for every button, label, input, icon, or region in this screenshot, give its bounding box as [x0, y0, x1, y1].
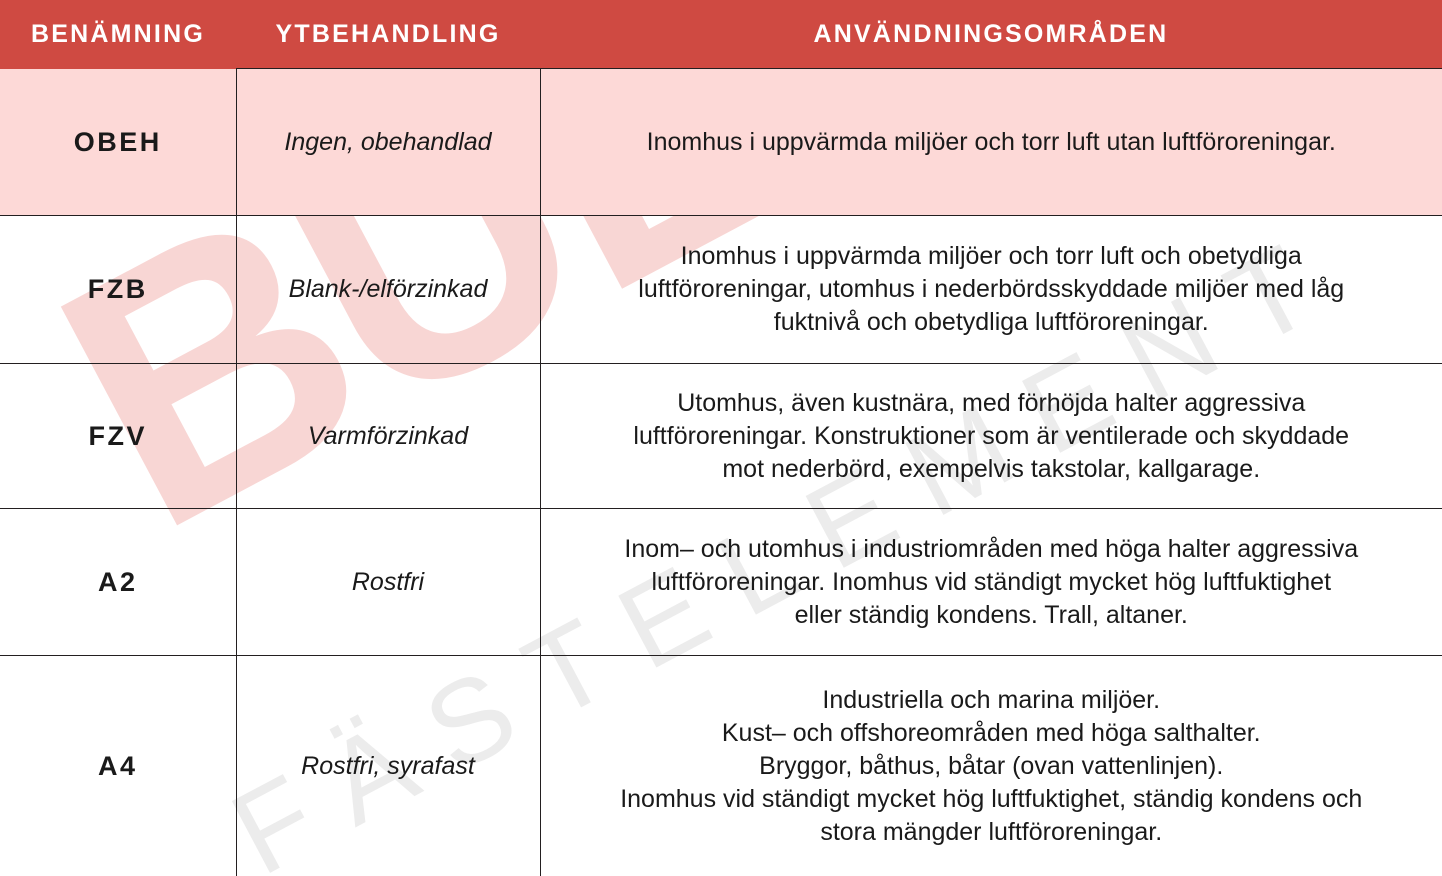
column-header-benamning: BENÄMNING	[0, 0, 236, 69]
cell-text-line: Kust– och offshoreområden med höga salth…	[549, 717, 1435, 750]
cell-text-line: Inomhus vid ständigt mycket hög luftfukt…	[549, 783, 1435, 816]
cell-benamning: OBEH	[0, 69, 236, 216]
cell-text-line: Utomhus, även kustnära, med förhöjda hal…	[549, 387, 1435, 420]
table-row: OBEH Ingen, obehandlad Inomhus i uppvärm…	[0, 69, 1442, 216]
cell-text-line: Industriella och marina miljöer.	[549, 684, 1435, 717]
cell-text-line: mot nederbörd, exempelvis takstolar, kal…	[549, 453, 1435, 486]
cell-benamning: A4	[0, 656, 236, 876]
cell-anvandningsomraden: Utomhus, även kustnära, med förhöjda hal…	[540, 364, 1442, 509]
cell-anvandningsomraden: Industriella och marina miljöer. Kust– o…	[540, 656, 1442, 876]
cell-benamning: FZB	[0, 216, 236, 364]
cell-benamning: A2	[0, 509, 236, 656]
cell-text-line: Inom– och utomhus i industriområden med …	[549, 533, 1435, 566]
cell-text-line: luftföroreningar. Konstruktioner som är …	[549, 420, 1435, 453]
cell-text-line: eller ständig kondens. Trall, altaner.	[549, 599, 1435, 632]
cell-ytbehandling: Rostfri, syrafast	[236, 656, 540, 876]
table-row: FZB Blank-/elförzinkad Inomhus i uppvärm…	[0, 216, 1442, 364]
cell-text-line: luftföroreningar, utomhus i nederbördssk…	[549, 273, 1435, 306]
column-header-anvandningsomraden: ANVÄNDNINGSOMRÅDEN	[540, 0, 1442, 69]
cell-ytbehandling: Varmförzinkad	[236, 364, 540, 509]
table-row: FZV Varmförzinkad Utomhus, även kustnära…	[0, 364, 1442, 509]
table-row: A4 Rostfri, syrafast Industriella och ma…	[0, 656, 1442, 876]
column-header-ytbehandling: YTBEHANDLING	[236, 0, 540, 69]
cell-ytbehandling: Blank-/elförzinkad	[236, 216, 540, 364]
cell-text-line: stora mängder luftföroreningar.	[549, 816, 1435, 849]
cell-benamning: FZV	[0, 364, 236, 509]
cell-text-line: luftföroreningar. Inomhus vid ständigt m…	[549, 566, 1435, 599]
cell-text-line: fuktnivå och obetydliga luftföroreningar…	[549, 306, 1435, 339]
table-header-row: BENÄMNING YTBEHANDLING ANVÄNDNINGSOMRÅDE…	[0, 0, 1442, 69]
surface-treatment-table: BENÄMNING YTBEHANDLING ANVÄNDNINGSOMRÅDE…	[0, 0, 1442, 876]
table-body: OBEH Ingen, obehandlad Inomhus i uppvärm…	[0, 69, 1442, 876]
cell-text-line: Bryggor, båthus, båtar (ovan vattenlinje…	[549, 750, 1435, 783]
surface-treatment-table-page: BULTAB FÄSTELEMENT BENÄMNING YTBEHANDLIN…	[0, 0, 1442, 876]
cell-anvandningsomraden: Inomhus i uppvärmda miljöer och torr luf…	[540, 216, 1442, 364]
cell-ytbehandling: Ingen, obehandlad	[236, 69, 540, 216]
table-header: BENÄMNING YTBEHANDLING ANVÄNDNINGSOMRÅDE…	[0, 0, 1442, 69]
table-row: A2 Rostfri Inom– och utomhus i industrio…	[0, 509, 1442, 656]
cell-text-line: Inomhus i uppvärmda miljöer och torr luf…	[549, 240, 1435, 273]
cell-text-line: Inomhus i uppvärmda miljöer och torr luf…	[549, 126, 1435, 159]
cell-anvandningsomraden: Inomhus i uppvärmda miljöer och torr luf…	[540, 69, 1442, 216]
cell-anvandningsomraden: Inom– och utomhus i industriområden med …	[540, 509, 1442, 656]
cell-ytbehandling: Rostfri	[236, 509, 540, 656]
